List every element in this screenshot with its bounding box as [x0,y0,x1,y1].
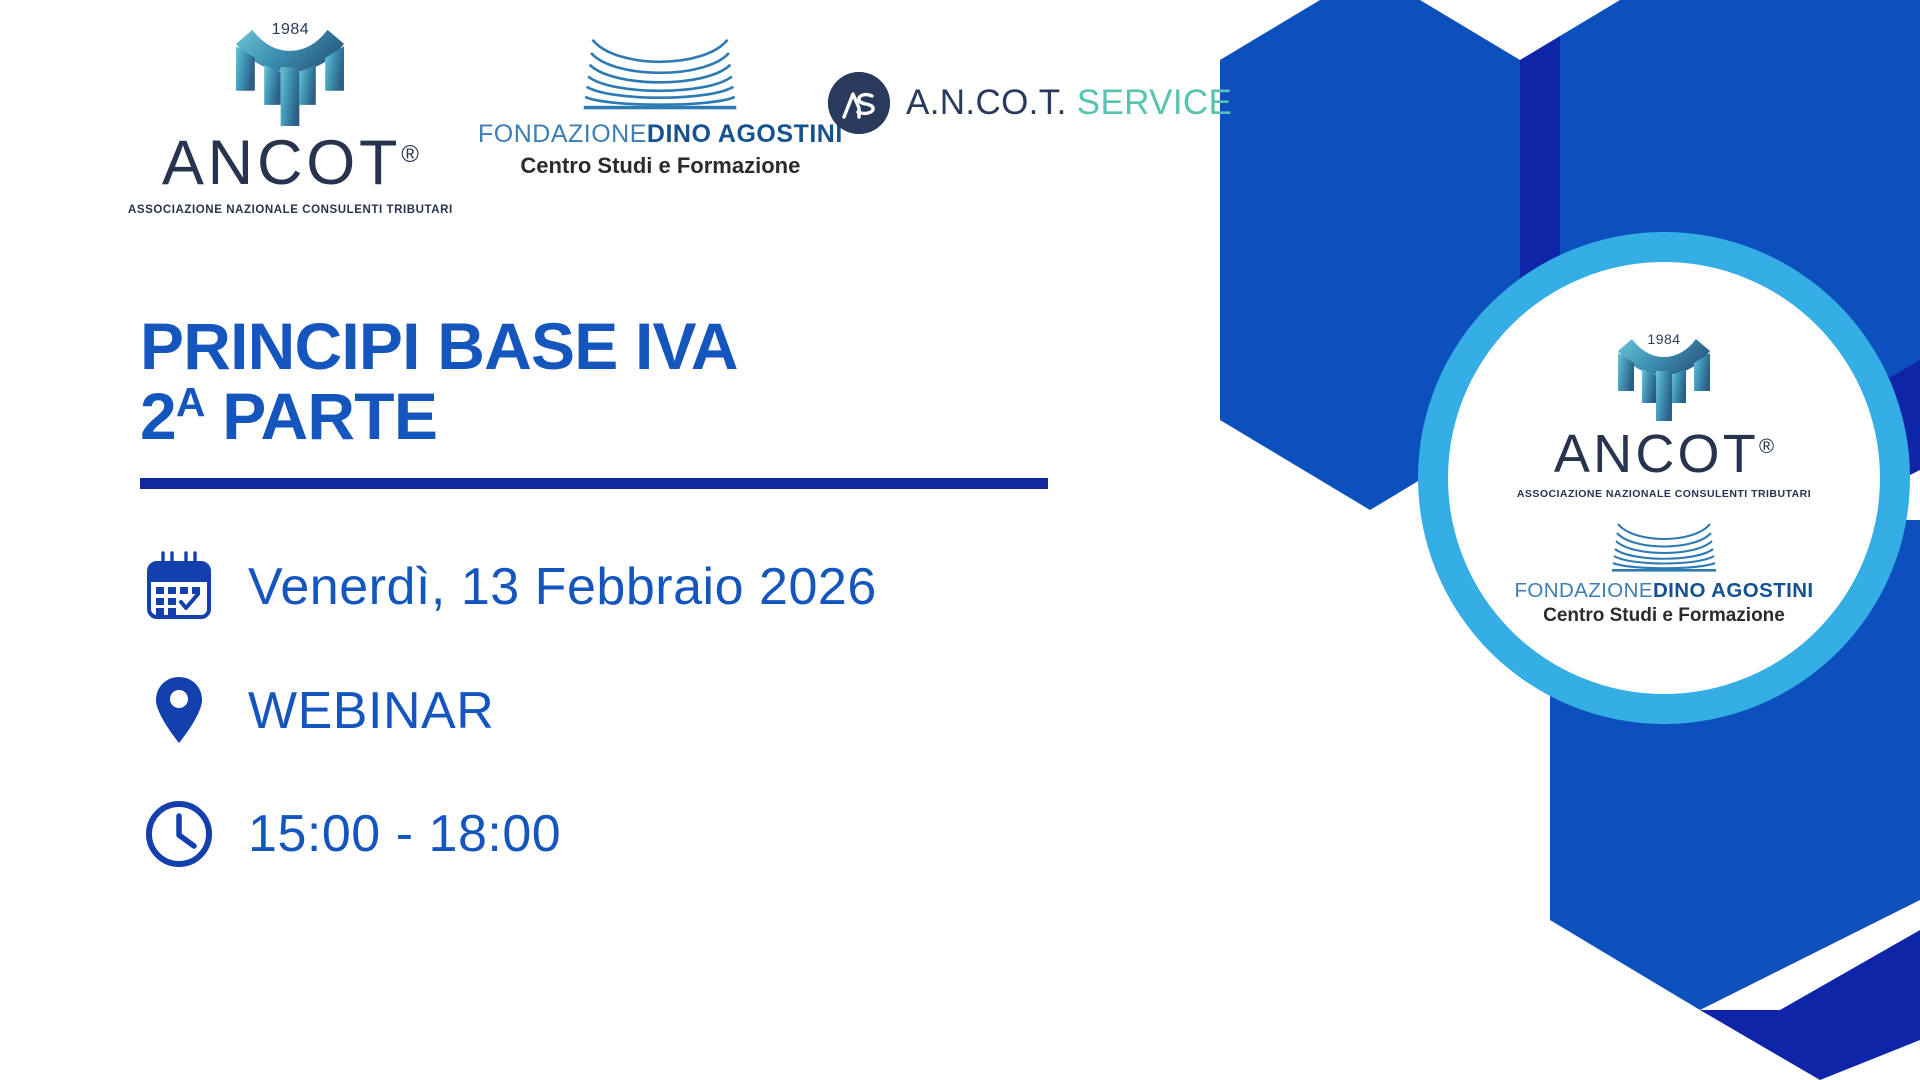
title-line-1: PRINCIPI BASE IVA [140,312,1100,382]
header-ancot-service-logo: A.N.CO.T. SERVICE [828,72,1232,134]
header-ancot-logo: 1984 ANCOT® ASSOCIAZIONE NAZIONALE CONSU… [128,18,453,216]
ancot-tagline: ASSOCIAZIONE NAZIONALE CONSULENTI TRIBUT… [128,204,453,216]
event-location-text: WEBINAR [248,685,494,737]
ancot-service-dark-text: A.N.CO.T. [906,83,1067,122]
ancot-wordmark: ANCOT® [1554,427,1774,481]
header-fondazione-logo: FONDAZIONEDINO AGOSTINI Centro Studi e F… [478,36,843,179]
event-time-text: 15:00 - 18:00 [248,808,561,860]
as-monogram-icon [828,72,890,134]
ancot-registered-mark: ® [1759,435,1774,458]
fondazione-word-light: FONDAZIONE [1514,579,1653,602]
ancot-emblem-icon: 1984 [1612,329,1716,421]
event-location-row: WEBINAR [140,675,1100,747]
header-logo-row: 1984 ANCOT® ASSOCIAZIONE NAZIONALE CONSU… [0,0,1260,200]
page-title: PRINCIPI BASE IVA 2a PARTE [140,312,1100,452]
ancot-service-teal-text: SERVICE [1077,83,1232,122]
title-part-ordinal: a [176,379,205,425]
fondazione-word-bold: DINO AGOSTINI [1653,579,1814,602]
ancot-year: 1984 [272,21,310,39]
ancot-wordmark: ANCOT® [162,132,419,195]
fondazione-tagline: Centro Studi e Formazione [1543,605,1785,627]
event-details-list: Venerdì, 13 Febbraio 2026 WEBINAR [140,551,1100,869]
fondazione-arcs-icon [572,36,748,114]
title-divider [140,478,1048,489]
fondazione-arcs-icon [1604,522,1724,574]
ancot-year: 1984 [1647,331,1680,347]
location-pin-icon [140,675,218,747]
ancot-wordmark-text: ANCOT [1554,424,1759,484]
ancot-registered-mark: ® [401,141,419,168]
fondazione-wordmark: FONDAZIONEDINO AGOSTINI [478,121,843,149]
ancot-circular-badge: 1984 ANCOT® ASSOCIAZIONE NAZIONALE CONSU… [1418,232,1910,724]
badge-disc: 1984 ANCOT® ASSOCIAZIONE NAZIONALE CONSU… [1448,262,1880,694]
event-poster: 1984 ANCOT® ASSOCIAZIONE NAZIONALE CONSU… [0,0,1920,1080]
event-time-row: 15:00 - 18:00 [140,799,1100,869]
ancot-service-monogram-icon [828,72,890,134]
badge-fondazione-logo: FONDAZIONEDINO AGOSTINI Centro Studi e F… [1514,522,1813,628]
badge-ancot-logo: 1984 ANCOT® ASSOCIAZIONE NAZIONALE CONSU… [1517,329,1811,500]
event-date-row: Venerdì, 13 Febbraio 2026 [140,551,1100,623]
ancot-service-text: A.N.CO.T. SERVICE [906,83,1232,123]
clock-glyph-icon [144,799,214,869]
event-date-text: Venerdì, 13 Febbraio 2026 [248,561,877,613]
clock-icon [140,799,218,869]
ancot-emblem-icon: 1984 [229,18,351,126]
title-part-number: 2 [140,379,176,453]
calendar-icon [140,551,218,623]
map-pin-glyph-icon [153,675,205,747]
ancot-tagline: ASSOCIAZIONE NAZIONALE CONSULENTI TRIBUT… [1517,488,1811,500]
title-part-rest: PARTE [205,379,437,453]
fondazione-word-light: FONDAZIONE [478,120,647,148]
fondazione-word-bold: DINO AGOSTINI [647,120,843,148]
title-line-2: 2a PARTE [140,382,1100,452]
fondazione-tagline: Centro Studi e Formazione [520,153,800,179]
main-content: PRINCIPI BASE IVA 2a PARTE [140,312,1100,869]
fondazione-wordmark: FONDAZIONEDINO AGOSTINI [1514,580,1813,603]
calendar-glyph-icon [144,551,214,623]
ancot-wordmark-text: ANCOT [162,128,401,198]
